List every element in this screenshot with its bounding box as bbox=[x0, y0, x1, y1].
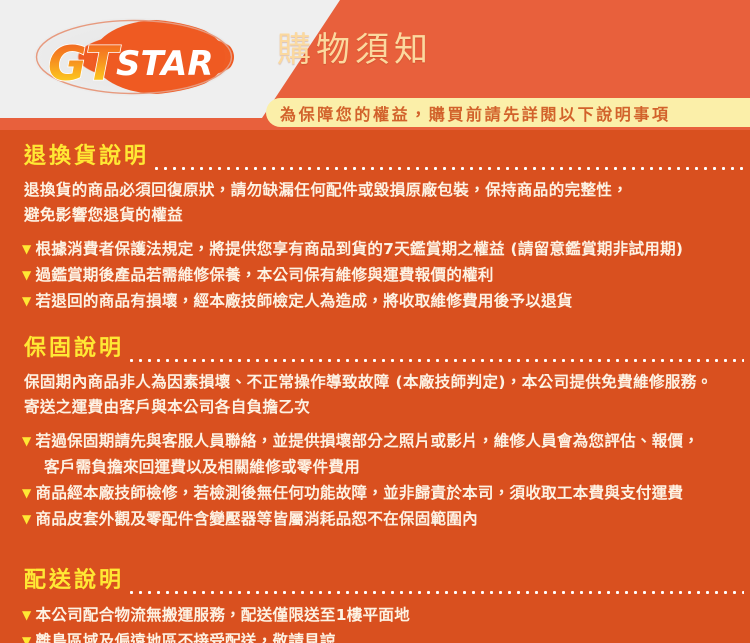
spacer bbox=[0, 362, 750, 370]
list-item: ▼ 商品皮套外觀及零配件含變壓器等皆屬消耗品恕不在保固範圍內 bbox=[0, 506, 750, 532]
list-item-text: 本公司配合物流無搬運服務，配送僅限送至1樓平面地 bbox=[36, 602, 740, 628]
section-paragraph: 保固期內商品非人為因素損壞、不正常操作導致故障 (本廠技師判定)，本公司提供免費… bbox=[0, 370, 750, 395]
page-title: 購物須知 bbox=[277, 28, 433, 72]
dotted-rule bbox=[152, 159, 744, 170]
list-item-text: 過鑑賞期後產品若需維修保養，本公司保有維修與運費報價的權利 bbox=[36, 262, 740, 288]
spacer bbox=[0, 130, 750, 138]
logo-text-gt: GT bbox=[48, 37, 122, 92]
logo-text-star: STAR bbox=[116, 44, 214, 84]
spacer bbox=[0, 420, 750, 428]
triangle-bullet-icon: ▼ bbox=[22, 428, 32, 454]
list-item: ▼ 若過保固期請先與客服人員聯絡，並提供損壞部分之照片或影片，維修人員會為您評估… bbox=[0, 428, 750, 454]
spacer bbox=[0, 170, 750, 178]
spacer bbox=[0, 532, 750, 562]
logo-artwork-icon: GT STAR bbox=[34, 18, 234, 96]
section-delivery-policy: 配送說明 ▼ 本公司配合物流無搬運服務，配送僅限送至1樓平面地 ▼ 離島區域及偏… bbox=[0, 532, 750, 643]
header-subtitle-text: 為保障您的權益，購買前請先詳閱以下說明事項 bbox=[280, 101, 671, 125]
spacer bbox=[0, 314, 750, 330]
section-paragraph: 退換貨的商品必須回復原狀，請勿缺漏任何配件或毀損原廠包裝，保持商品的完整性， bbox=[0, 178, 750, 203]
section-return-policy: 退換貨說明 退換貨的商品必須回復原狀，請勿缺漏任何配件或毀損原廠包裝，保持商品的… bbox=[0, 130, 750, 314]
list-item: ▼ 過鑑賞期後產品若需維修保養，本公司保有維修與運費報價的權利 bbox=[0, 262, 750, 288]
list-item: ▼ 若退回的商品有損壞，經本廠技師檢定人為造成，將收取維修費用後予以退貨 bbox=[0, 288, 750, 314]
shopping-notice-page: GT STAR 購物須知 為保障您的權益，購買前請先詳閱以下說明事項 退換貨說明… bbox=[0, 0, 750, 643]
section-paragraph: 寄送之運費由客戶與本公司各自負擔乙次 bbox=[0, 395, 750, 420]
triangle-bullet-icon: ▼ bbox=[22, 480, 32, 506]
list-item: ▼ 根據消費者保護法規定，將提供您享有商品到貨的7天鑑賞期之權益 (請留意鑑賞期… bbox=[0, 236, 750, 262]
header-subtitle-pill: 為保障您的權益，購買前請先詳閱以下說明事項 bbox=[266, 98, 750, 127]
spacer bbox=[0, 228, 750, 236]
section-title: 配送說明 bbox=[24, 568, 124, 594]
section-header-return-policy: 退換貨說明 bbox=[0, 138, 750, 170]
list-item-continuation: 客戶需負擔來回運費以及相關維修或零件費用 bbox=[0, 454, 750, 480]
list-item: ▼ 本公司配合物流無搬運服務，配送僅限送至1樓平面地 bbox=[0, 602, 750, 628]
list-item-text: 若退回的商品有損壞，經本廠技師檢定人為造成，將收取維修費用後予以退貨 bbox=[36, 288, 740, 314]
dotted-rule bbox=[127, 351, 744, 362]
triangle-bullet-icon: ▼ bbox=[22, 288, 32, 314]
section-title: 退換貨說明 bbox=[24, 144, 149, 170]
section-header-warranty-policy: 保固說明 bbox=[0, 330, 750, 362]
section-title: 保固說明 bbox=[24, 336, 124, 362]
list-item-text: 離島區域及偏遠地區不接受配送，敬請見諒 bbox=[36, 628, 740, 643]
page-header: GT STAR 購物須知 為保障您的權益，購買前請先詳閱以下說明事項 bbox=[0, 0, 750, 130]
triangle-bullet-icon: ▼ bbox=[22, 602, 32, 628]
list-item-text: 若過保固期請先與客服人員聯絡，並提供損壞部分之照片或影片，維修人員會為您評估、報… bbox=[36, 428, 740, 454]
triangle-bullet-icon: ▼ bbox=[22, 262, 32, 288]
spacer bbox=[0, 594, 750, 602]
dotted-rule bbox=[127, 583, 744, 594]
policy-content: 退換貨說明 退換貨的商品必須回復原狀，請勿缺漏任何配件或毀損原廠包裝，保持商品的… bbox=[0, 130, 750, 643]
list-item-text: 商品經本廠技師檢修，若檢測後無任何功能故障，並非歸責於本司，須收取工本費與支付運… bbox=[36, 480, 740, 506]
section-warranty-policy: 保固說明 保固期內商品非人為因素損壞、不正常操作導致故障 (本廠技師判定)，本公… bbox=[0, 314, 750, 532]
section-header-delivery-policy: 配送說明 bbox=[0, 562, 750, 594]
triangle-bullet-icon: ▼ bbox=[22, 628, 32, 643]
triangle-bullet-icon: ▼ bbox=[22, 236, 32, 262]
list-item: ▼ 離島區域及偏遠地區不接受配送，敬請見諒 bbox=[0, 628, 750, 643]
gt-star-logo: GT STAR bbox=[34, 18, 234, 96]
list-item-text: 商品皮套外觀及零配件含變壓器等皆屬消耗品恕不在保固範圍內 bbox=[36, 506, 740, 532]
list-item-text: 根據消費者保護法規定，將提供您享有商品到貨的7天鑑賞期之權益 (請留意鑑賞期非試… bbox=[36, 236, 740, 262]
section-paragraph: 避免影響您退貨的權益 bbox=[0, 203, 750, 228]
list-item: ▼ 商品經本廠技師檢修，若檢測後無任何功能故障，並非歸責於本司，須收取工本費與支… bbox=[0, 480, 750, 506]
triangle-bullet-icon: ▼ bbox=[22, 506, 32, 532]
